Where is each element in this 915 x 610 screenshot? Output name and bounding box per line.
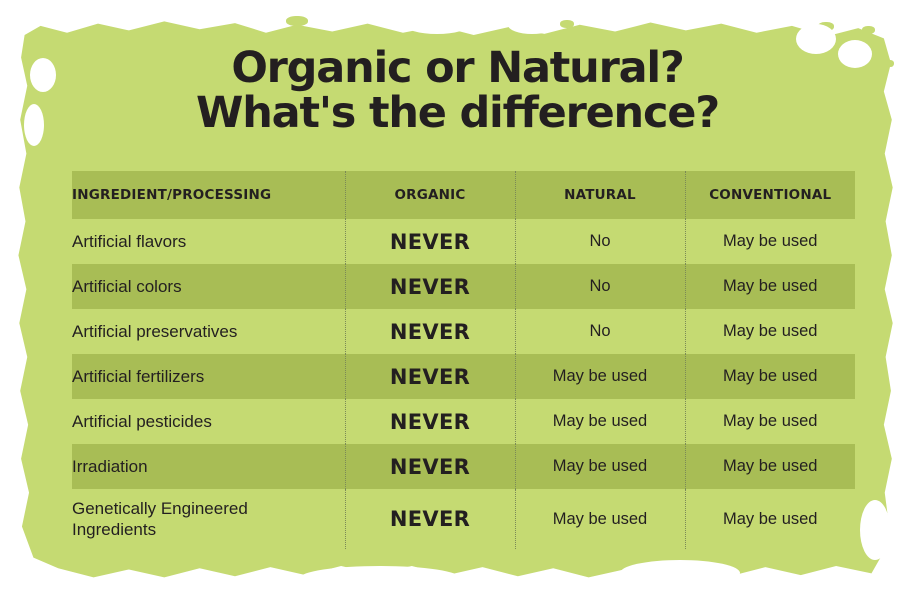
edge-notch: [300, 566, 460, 590]
cell-natural: No: [515, 309, 685, 354]
cell-organic: NEVER: [345, 219, 515, 264]
cell-ingredient: Artificial pesticides: [72, 399, 345, 444]
cell-organic: NEVER: [345, 444, 515, 489]
cell-conventional: May be used: [685, 489, 855, 549]
column-header-ingredient: INGREDIENT/PROCESSING: [72, 171, 345, 219]
table-row: Artificial flavors NEVER No May be used: [72, 219, 855, 264]
cell-organic: NEVER: [345, 489, 515, 549]
cell-organic: NEVER: [345, 264, 515, 309]
title-line-1: Organic or Natural?: [0, 46, 915, 91]
cell-natural: No: [515, 219, 685, 264]
table-row: Artificial fertilizers NEVER May be used…: [72, 354, 855, 399]
comparison-table: INGREDIENT/PROCESSING ORGANIC NATURAL CO…: [72, 171, 855, 549]
table-header-row: INGREDIENT/PROCESSING ORGANIC NATURAL CO…: [72, 171, 855, 219]
column-header-natural: NATURAL: [515, 171, 685, 219]
edge-notch: [620, 560, 740, 586]
cell-natural: May be used: [515, 444, 685, 489]
table-body: Artificial flavors NEVER No May be used …: [72, 219, 855, 549]
cell-conventional: May be used: [685, 309, 855, 354]
table-header: INGREDIENT/PROCESSING ORGANIC NATURAL CO…: [72, 171, 855, 219]
cell-ingredient: Artificial flavors: [72, 219, 345, 264]
cell-ingredient: Artificial colors: [72, 264, 345, 309]
edge-notch: [860, 500, 890, 560]
comparison-table-container: INGREDIENT/PROCESSING ORGANIC NATURAL CO…: [72, 171, 855, 549]
cell-ingredient: Artificial preservatives: [72, 309, 345, 354]
edge-speck: [862, 26, 875, 34]
cell-organic: NEVER: [345, 354, 515, 399]
cell-natural: May be used: [515, 354, 685, 399]
edge-notch: [508, 16, 556, 34]
title-line-2: What's the difference?: [0, 91, 915, 136]
cell-organic: NEVER: [345, 309, 515, 354]
cell-ingredient: Genetically Engineered Ingredients: [72, 489, 345, 549]
table-row: Artificial colors NEVER No May be used: [72, 264, 855, 309]
cell-conventional: May be used: [685, 354, 855, 399]
cell-conventional: May be used: [685, 444, 855, 489]
cell-ingredient: Irradiation: [72, 444, 345, 489]
cell-conventional: May be used: [685, 264, 855, 309]
cell-conventional: May be used: [685, 219, 855, 264]
table-row: Artificial preservatives NEVER No May be…: [72, 309, 855, 354]
table-row: Artificial pesticides NEVER May be used …: [72, 399, 855, 444]
cell-organic: NEVER: [345, 399, 515, 444]
cell-conventional: May be used: [685, 399, 855, 444]
infographic-poster: Organic or Natural? What's the differenc…: [0, 0, 915, 610]
cell-natural: No: [515, 264, 685, 309]
page-title: Organic or Natural? What's the differenc…: [0, 46, 915, 136]
column-header-conventional: CONVENTIONAL: [685, 171, 855, 219]
edge-speck: [286, 16, 308, 26]
table-row: Irradiation NEVER May be used May be use…: [72, 444, 855, 489]
table-row: Genetically Engineered Ingredients NEVER…: [72, 489, 855, 549]
cell-natural: May be used: [515, 399, 685, 444]
edge-speck: [560, 20, 574, 28]
edge-notch: [404, 14, 470, 34]
column-header-organic: ORGANIC: [345, 171, 515, 219]
cell-ingredient: Artificial fertilizers: [72, 354, 345, 399]
cell-natural: May be used: [515, 489, 685, 549]
